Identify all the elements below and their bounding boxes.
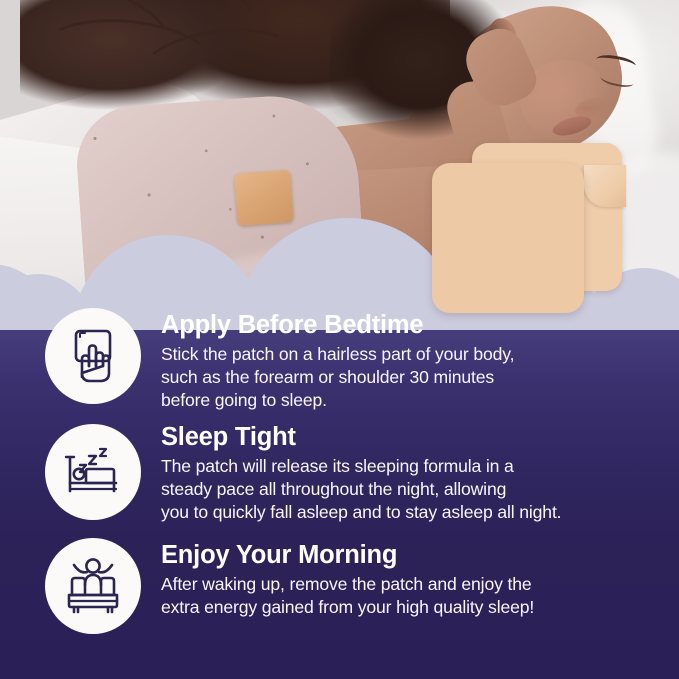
- sleep-patch-on-arm: [234, 170, 293, 226]
- step-body: After waking up, remove the patch and en…: [161, 573, 651, 619]
- step-title: Apply Before Bedtime: [161, 312, 651, 339]
- step-text: Enjoy Your Morning After waking up, remo…: [161, 530, 651, 619]
- steps-list: Apply Before Bedtime Stick the patch on …: [0, 308, 679, 640]
- person-stretching-in-bed-icon: [62, 555, 124, 617]
- step-row-enjoy-your-morning: Enjoy Your Morning After waking up, remo…: [0, 530, 679, 634]
- step-title: Enjoy Your Morning: [161, 542, 651, 569]
- step-title: Sleep Tight: [161, 424, 651, 451]
- step-row-sleep-tight: Sleep Tight The patch will release its s…: [0, 418, 679, 524]
- step-icon-badge: [45, 424, 141, 520]
- step-text: Sleep Tight The patch will release its s…: [161, 418, 651, 524]
- bed-sleeping-zzz-icon: [62, 441, 124, 503]
- step-body: Stick the patch on a hairless part of yo…: [161, 343, 651, 412]
- patch-front: [432, 163, 584, 313]
- step-icon-badge: [45, 308, 141, 404]
- infographic-canvas: Apply Before Bedtime Stick the patch on …: [0, 0, 679, 679]
- step-text: Apply Before Bedtime Stick the patch on …: [161, 308, 651, 412]
- step-row-apply-before-bedtime: Apply Before Bedtime Stick the patch on …: [0, 308, 679, 412]
- patch-peel-corner: [584, 165, 626, 207]
- sleep-patch-product-graphic: [432, 143, 622, 313]
- pink-pajama-top: [73, 90, 367, 300]
- step-icon-badge: [45, 538, 141, 634]
- hand-pressing-patch-icon: [62, 325, 124, 387]
- step-body: The patch will release its sleeping form…: [161, 455, 651, 524]
